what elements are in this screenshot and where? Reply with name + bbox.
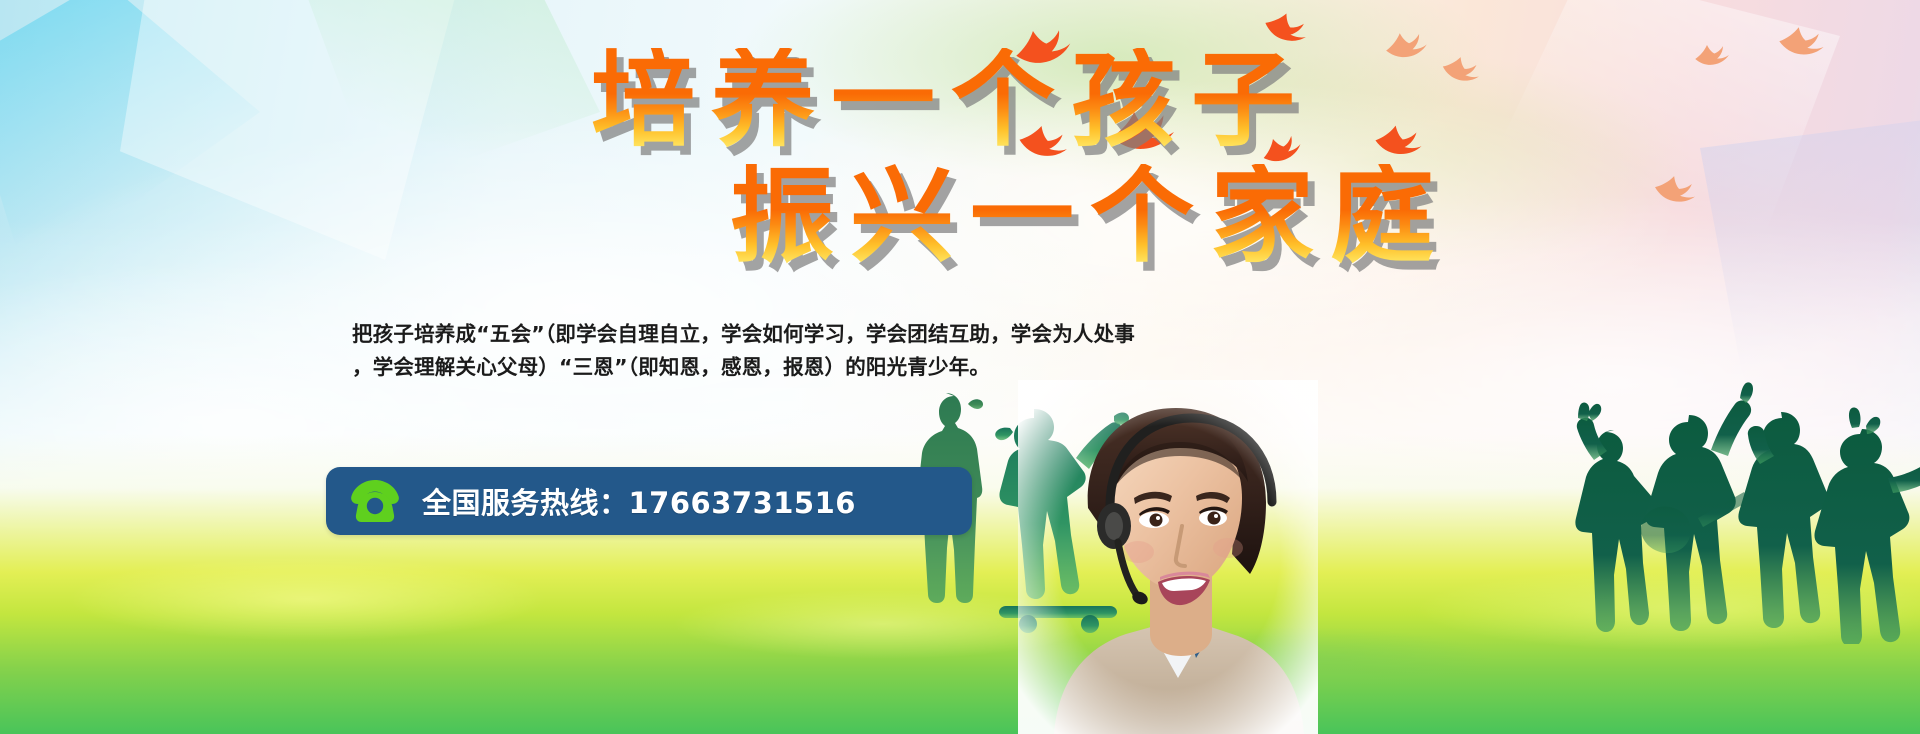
- phone-icon: [350, 478, 400, 524]
- headline-block: 培养一个孩子 振兴一个家庭: [0, 48, 1920, 268]
- hotline-label: 全国服务热线：17663731516: [422, 480, 856, 522]
- promo-banner: 培养一个孩子 振兴一个家庭 把孩子培养成“五会”（即学会自理自立，学会如何学习，…: [0, 0, 1920, 734]
- bird-orange-1-icon: [1004, 11, 1077, 78]
- customer-service-agent-photo: [1018, 380, 1318, 734]
- body-copy-line-2: ，学会理解关心父母）“三恩”（即知恩，感恩，报恩）的阳光青少年。: [352, 351, 1252, 384]
- bird-orange-4-icon: [1257, 0, 1316, 53]
- silhouette-jumping-group: [1570, 368, 1920, 644]
- bird-peach-2-icon: [1436, 45, 1485, 90]
- headline-line-1: 培养一个孩子: [0, 48, 1920, 152]
- bird-orange-2-icon: [1012, 112, 1074, 169]
- shard-green-icon: [300, 0, 600, 190]
- bird-orange-6-icon: [1370, 113, 1427, 164]
- shard-white-icon: [120, 0, 460, 260]
- bird-peach-3-icon: [1690, 36, 1732, 73]
- bird-peach-1-icon: [1379, 20, 1431, 67]
- bird-orange-5-icon: [1252, 121, 1308, 175]
- body-copy-line-1: 把孩子培养成“五会”（即学会自理自立，学会如何学习，学会团结互助，学会为人处事: [352, 318, 1252, 351]
- service-hotline-bar[interactable]: 全国服务热线：17663731516: [326, 467, 972, 535]
- shard-lilac-icon: [1700, 120, 1920, 400]
- body-copy-block: 把孩子培养成“五会”（即学会自理自立，学会如何学习，学会团结互助，学会为人处事 …: [352, 318, 1252, 384]
- shard-cyan-icon: [0, 0, 260, 280]
- bird-peach-5-icon: [1648, 164, 1701, 213]
- bird-orange-3-icon: [1103, 97, 1179, 162]
- bird-peach-4-icon: [1774, 16, 1828, 65]
